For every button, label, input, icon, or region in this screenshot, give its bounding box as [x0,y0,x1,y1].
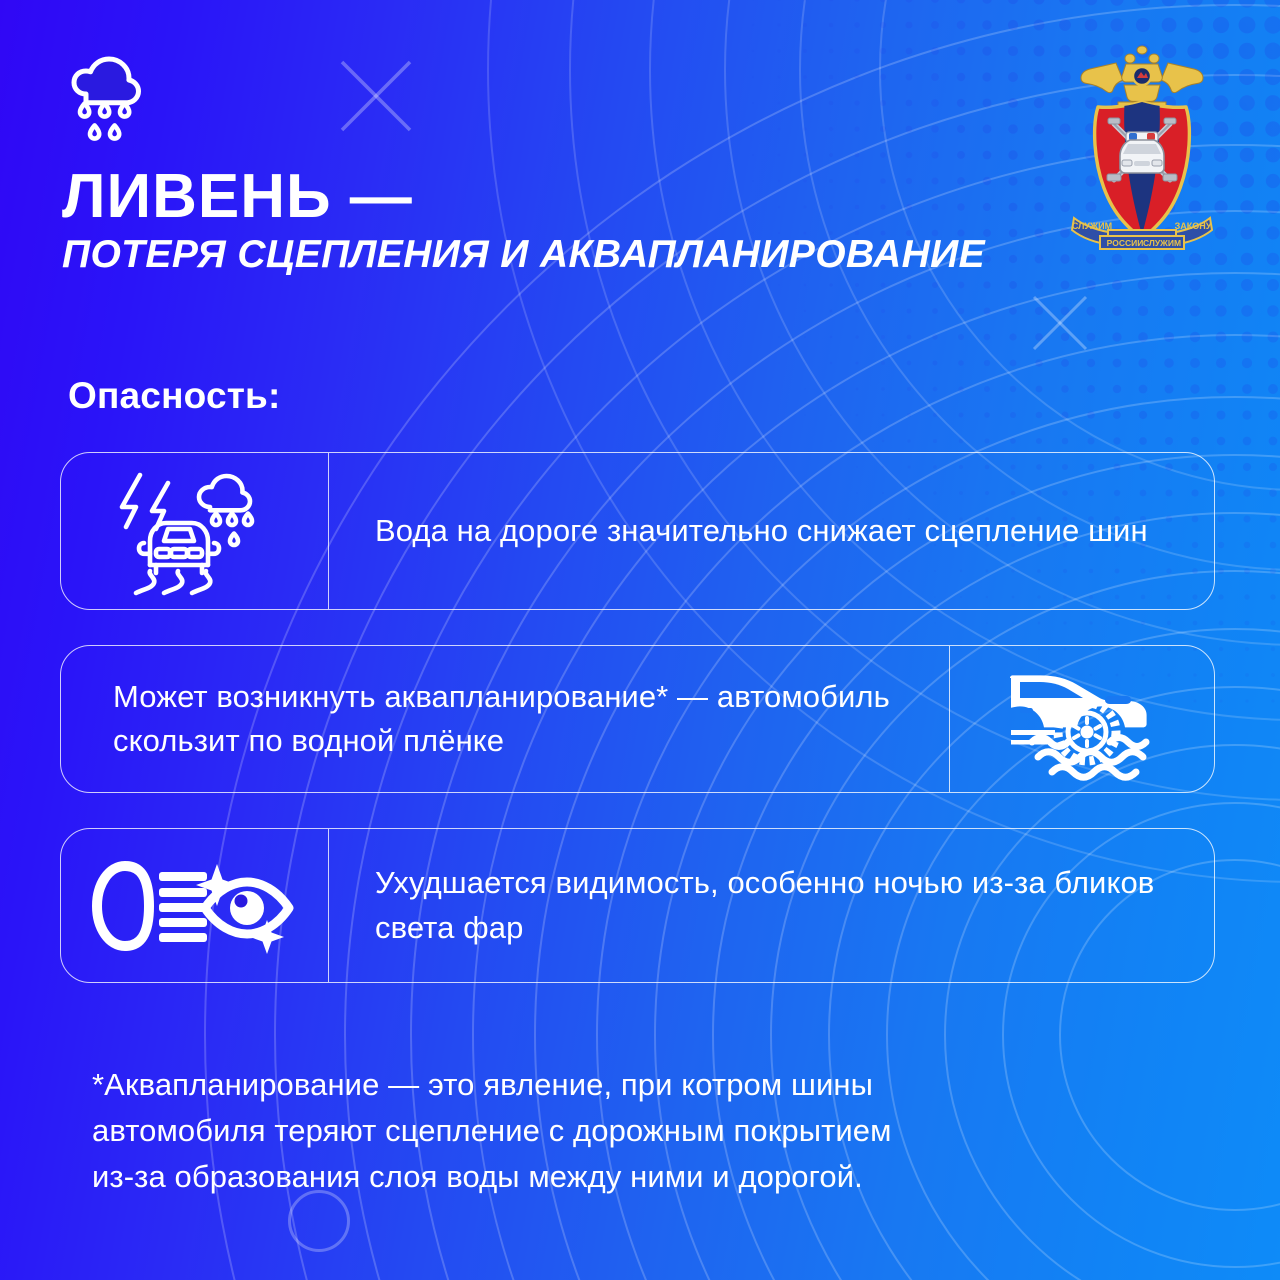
mvd-gibdd-emblem: СЛУЖИМ РОССИИ СЛУЖИМ ЗАКОНУ [1052,32,1232,257]
page-title: ЛИВЕНЬ — [62,165,1042,228]
danger-card-traction-loss: Вода на дороге значительно снижает сцепл… [60,452,1215,610]
emblem-ribbon-center-bottom: СЛУЖИМ [1143,238,1181,248]
section-heading-danger: Опасность: [68,375,281,417]
emblem-ribbon-right: ЗАКОНУ [1175,221,1212,231]
footnote-line-3: из-за образования слоя воды между ними и… [92,1154,1112,1200]
card-text: Ухудшается видимость, особенно ночью из-… [329,829,1214,982]
card-text: Вода на дороге значительно снижает сцепл… [329,453,1214,609]
danger-card-aquaplaning: Может возникнуть аквапланирование* — авт… [60,645,1215,793]
footnote-line-1: *Аквапланирование — это явление, при кот… [92,1062,1112,1108]
poster-canvas: ЛИВЕНЬ — ПОТЕРЯ СЦЕПЛЕНИЯ И АКВАПЛАНИРОВ… [0,0,1280,1280]
x-decoration-icon-2 [1029,292,1091,354]
car-rain-lightning-skid-icon [106,465,284,597]
emblem-ribbon-left: СЛУЖИМ [1072,221,1112,231]
page-subtitle: ПОТЕРЯ СЦЕПЛЕНИЯ И АКВАПЛАНИРОВАНИЕ [62,234,1042,277]
footnote-block: *Аквапланирование — это явление, при кот… [92,1062,1112,1200]
rain-cloud-icon [62,52,158,148]
card-icon-slot [61,829,329,982]
card-icon-slot [61,453,329,609]
emblem-ribbon-center-top: РОССИИ [1107,238,1144,248]
header-block: ЛИВЕНЬ — ПОТЕРЯ СЦЕПЛЕНИЯ И АКВАПЛАНИРОВ… [62,52,1042,277]
danger-card-visibility: Ухудшается видимость, особенно ночью из-… [60,828,1215,983]
car-wheel-water-waves-icon [982,656,1182,782]
headlight-eye-glare-icon [89,858,301,954]
card-icon-slot [949,646,1214,792]
card-text: Может возникнуть аквапланирование* — авт… [61,646,949,792]
footnote-line-2: автомобиля теряют сцепление с дорожным п… [92,1108,1112,1154]
